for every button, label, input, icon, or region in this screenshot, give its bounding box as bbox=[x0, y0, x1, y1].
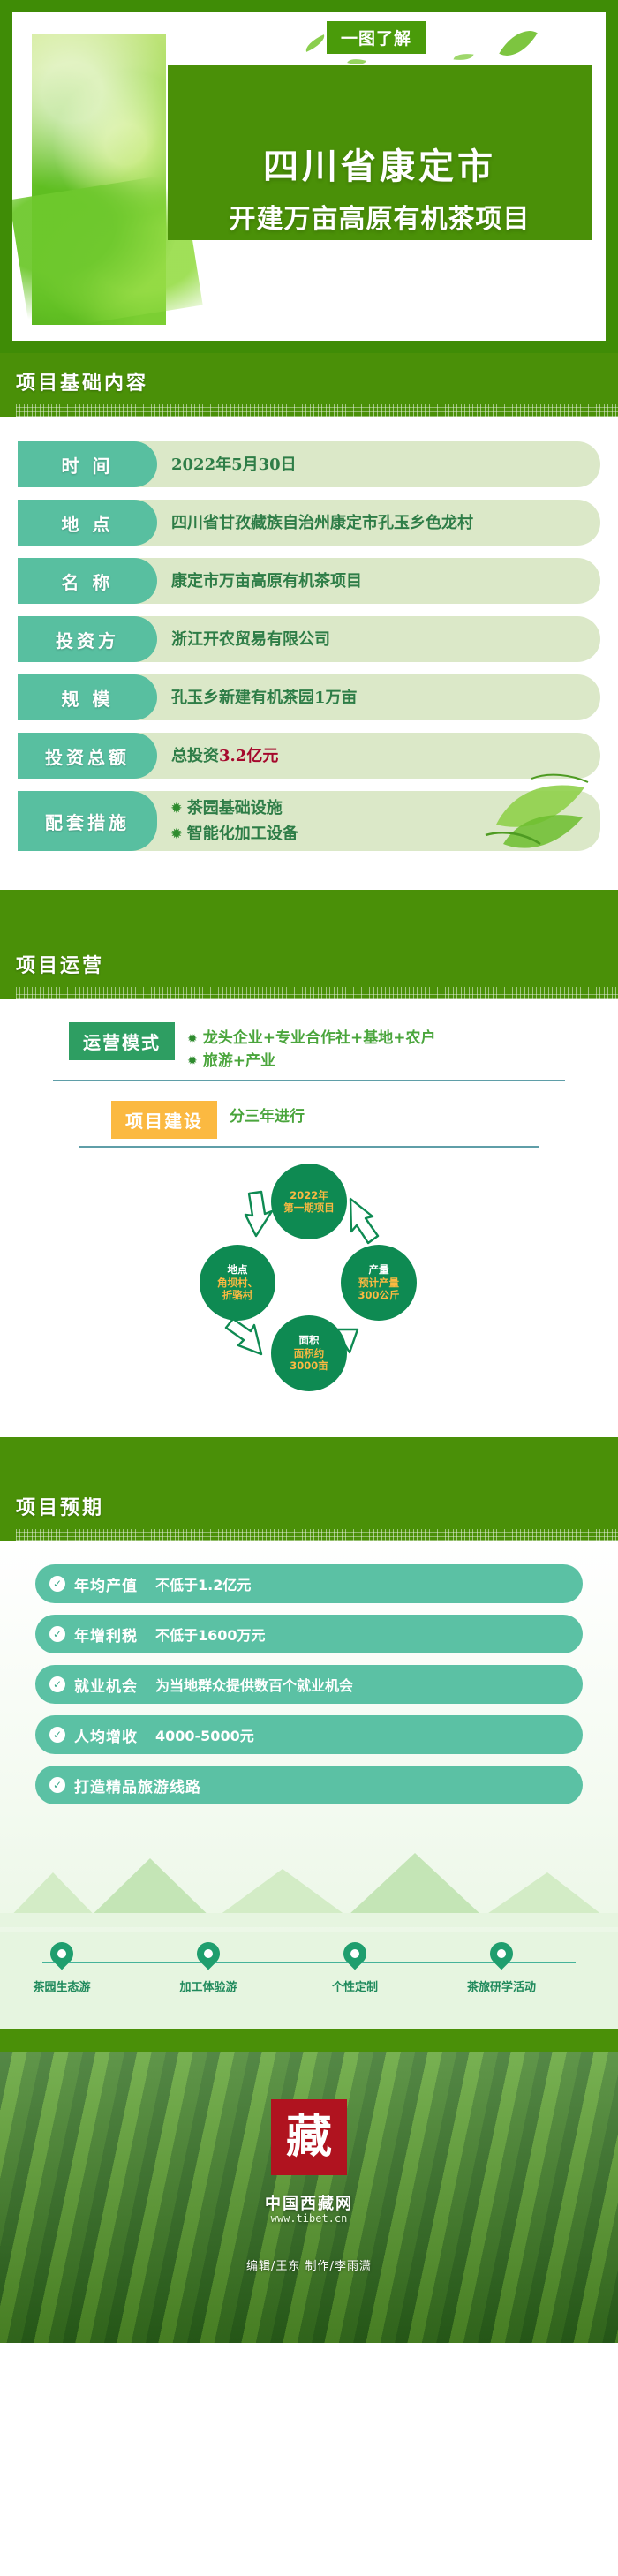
expectation-label: 年增利税 bbox=[74, 1623, 138, 1646]
mountain-silhouette-decoration bbox=[0, 1821, 618, 1927]
info-row-key: 时 间 bbox=[18, 441, 157, 487]
info-row: 规 模 孔玉乡新建有机茶园1万亩 bbox=[18, 674, 600, 720]
info-row: 名 称 康定市万亩高原有机茶项目 bbox=[18, 558, 600, 604]
expectation-pill: ✓ 人均增收 4000-5000元 bbox=[35, 1715, 583, 1754]
expectation-pill: ✓ 年均产值 不低于1.2亿元 bbox=[35, 1564, 583, 1603]
tea-leaf-photo bbox=[32, 34, 166, 325]
hero-inner-panel: 一图了解 四川省康定市 开建万亩高原有机茶项目 bbox=[12, 12, 606, 341]
cycle-node-phase: 2022年 第一期项目 bbox=[271, 1164, 347, 1239]
expectation-value: 4000-5000元 bbox=[155, 1724, 254, 1745]
info-row: 配套措施 ✹ 茶园基础设施 ✹ 智能化加工设备 bbox=[18, 791, 600, 851]
project-build-chip-label: 项目建设 bbox=[125, 1111, 203, 1132]
info-row-key: 投资方 bbox=[18, 616, 157, 662]
check-icon: ✓ bbox=[49, 1676, 65, 1692]
flower-bullet-icon: ✹ bbox=[171, 802, 182, 815]
map-pin-icon bbox=[46, 1938, 79, 1970]
leaf-decoration-icon bbox=[453, 52, 473, 63]
timeline-item-label: 个性定制 bbox=[302, 1977, 408, 1994]
list-item: ✹ 龙头企业+专业合作社+基地+农户 bbox=[187, 1028, 435, 1051]
flower-bullet-icon: ✹ bbox=[187, 1055, 198, 1067]
timeline-item: 茶园生态游 bbox=[9, 1942, 115, 1994]
map-pin-icon bbox=[486, 1938, 518, 1970]
list-item: ✹ 智能化加工设备 bbox=[171, 822, 298, 846]
divider-line bbox=[79, 1146, 539, 1148]
hero-title-line2: 开建万亩高原有机茶项目 bbox=[230, 197, 531, 236]
info-row-key: 名 称 bbox=[18, 558, 157, 604]
operation-mode-item-label: 旅游+产业 bbox=[203, 1051, 275, 1073]
info-row: 投资总额 总投资3.2亿元 bbox=[18, 733, 600, 779]
measure-label: 茶园基础设施 bbox=[187, 796, 283, 820]
cycle-node-sub: 面积约 3000亩 bbox=[290, 1347, 328, 1373]
site-name: 中国西藏网 bbox=[0, 2191, 618, 2214]
check-icon: ✓ bbox=[49, 1777, 65, 1793]
check-icon: ✓ bbox=[49, 1727, 65, 1743]
section-header-operation: 项目运营 bbox=[0, 936, 618, 999]
list-item: ✹ 茶园基础设施 bbox=[171, 796, 298, 820]
section-header-expectation: 项目预期 bbox=[0, 1478, 618, 1541]
expectation-label: 人均增收 bbox=[74, 1724, 138, 1746]
arrow-bottom-to-left bbox=[226, 1319, 261, 1354]
green-spacer-1 bbox=[0, 890, 618, 936]
list-item: ✹ 旅游+产业 bbox=[187, 1051, 435, 1073]
operation-mode-chip-label: 运营模式 bbox=[83, 1032, 161, 1053]
operation-section: 运营模式 ✹ 龙头企业+专业合作社+基地+农户 ✹ 旅游+产业 项目建设 分三年… bbox=[0, 999, 618, 1437]
expectation-value: 不低于1.2亿元 bbox=[155, 1573, 251, 1594]
basic-info-list: 时 间 2022年5月30日 地 点 四川省甘孜藏族自治州康定市孔玉乡色龙村 名… bbox=[0, 417, 618, 890]
measure-label: 智能化加工设备 bbox=[187, 822, 298, 846]
expectation-label: 打造精品旅游线路 bbox=[74, 1774, 201, 1796]
leaf-decoration-icon bbox=[303, 34, 328, 52]
info-row: 投资方 浙江开农贸易有限公司 bbox=[18, 616, 600, 662]
project-build-text: 分三年进行 bbox=[230, 1101, 305, 1129]
timeline-item: 加工体验游 bbox=[155, 1942, 261, 1994]
credit-line: 编辑/王东 制作/李雨潇 bbox=[0, 2256, 618, 2273]
info-row-value: 康定市万亩高原有机茶项目 bbox=[157, 558, 600, 604]
timeline-item-label: 茶园生态游 bbox=[9, 1977, 115, 1994]
operation-mode-item-label: 龙头企业+专业合作社+基地+农户 bbox=[203, 1028, 436, 1051]
cycle-node-location: 地点 角坝村、 折骆村 bbox=[200, 1245, 275, 1321]
info-row-key: 规 模 bbox=[18, 674, 157, 720]
expectation-value: 为当地群众提供数百个就业机会 bbox=[155, 1674, 353, 1695]
cycle-node-title: 面积 bbox=[299, 1334, 320, 1346]
leaf-decoration-icon bbox=[499, 21, 538, 64]
divider-line bbox=[53, 1080, 565, 1081]
flower-bullet-icon: ✹ bbox=[171, 828, 182, 840]
hero-banner: 一图了解 四川省康定市 开建万亩高原有机茶项目 bbox=[0, 0, 618, 353]
cycle-node-sub: 第一期项目 bbox=[283, 1201, 335, 1214]
check-icon: ✓ bbox=[49, 1626, 65, 1642]
flower-bullet-icon: ✹ bbox=[187, 1033, 198, 1045]
cycle-node-area: 面积 面积约 3000亩 bbox=[271, 1315, 347, 1391]
arrow-top-to-right bbox=[350, 1199, 378, 1243]
check-icon: ✓ bbox=[49, 1576, 65, 1592]
cycle-node-sub: 角坝村、 折骆村 bbox=[217, 1277, 258, 1302]
expectation-label: 就业机会 bbox=[74, 1674, 138, 1696]
info-row: 地 点 四川省甘孜藏族自治州康定市孔玉乡色龙村 bbox=[18, 500, 600, 546]
section-title-basic: 项目基础内容 bbox=[16, 367, 618, 395]
cycle-node-output: 产量 预计产量 300公斤 bbox=[341, 1245, 417, 1321]
hero-title-primary-block: 四川省康定市 bbox=[168, 65, 592, 192]
hero-badge: 一图了解 bbox=[327, 21, 426, 54]
info-row-key: 地 点 bbox=[18, 500, 157, 546]
project-build-chip: 项目建设 bbox=[111, 1101, 217, 1139]
infographic-page: 一图了解 四川省康定市 开建万亩高原有机茶项目 项目基础内容 时 间 2022年… bbox=[0, 0, 618, 2576]
info-row-value: ✹ 茶园基础设施 ✹ 智能化加工设备 bbox=[157, 791, 600, 851]
logo-glyph: 藏 bbox=[286, 2114, 332, 2160]
section-title-operation: 项目运营 bbox=[16, 950, 618, 978]
tourism-route-timeline: 茶园生态游 加工体验游 个性定制 茶旅研学活动 bbox=[0, 1932, 618, 2029]
expectation-pill: ✓ 年增利税 不低于1600万元 bbox=[35, 1615, 583, 1653]
site-logo: 藏 bbox=[271, 2099, 347, 2175]
cycle-node-sub: 预计产量 300公斤 bbox=[358, 1277, 399, 1302]
cycle-node-title: 地点 bbox=[228, 1263, 248, 1276]
fret-pattern-divider bbox=[16, 1529, 618, 1541]
map-pin-icon bbox=[192, 1938, 225, 1970]
cycle-node-title: 2022年 bbox=[290, 1189, 328, 1201]
section-header-basic: 项目基础内容 bbox=[0, 353, 618, 417]
hero-title-secondary-block: 开建万亩高原有机茶项目 bbox=[168, 192, 592, 240]
expectation-label: 年均产值 bbox=[74, 1573, 138, 1595]
expectation-pill: ✓ 就业机会 为当地群众提供数百个就业机会 bbox=[35, 1665, 583, 1704]
fret-pattern-divider bbox=[16, 404, 618, 417]
footer-banner: 藏 中国西藏网 www.tibet.cn 编辑/王东 制作/李雨潇 bbox=[0, 2052, 618, 2343]
info-row: 时 间 2022年5月30日 bbox=[18, 441, 600, 487]
investment-prefix: 总投资 bbox=[171, 744, 219, 768]
section-title-expectation: 项目预期 bbox=[16, 1492, 618, 1520]
info-row-value: 总投资3.2亿元 bbox=[157, 733, 600, 779]
green-spacer-2 bbox=[0, 1437, 618, 1478]
green-spacer-3 bbox=[0, 2029, 618, 2052]
info-row-value: 2022年5月30日 bbox=[157, 441, 600, 487]
cycle-node-title: 产量 bbox=[369, 1263, 389, 1276]
info-row-value: 四川省甘孜藏族自治州康定市孔玉乡色龙村 bbox=[157, 500, 600, 546]
expectation-pill: ✓ 打造精品旅游线路 bbox=[35, 1766, 583, 1804]
project-cycle-diagram: 2022年 第一期项目 产量 预计产量 300公斤 面积 面积约 3000亩 地… bbox=[177, 1164, 441, 1420]
site-url: www.tibet.cn bbox=[0, 2212, 618, 2225]
info-row-value: 孔玉乡新建有机茶园1万亩 bbox=[157, 674, 600, 720]
arrow-left-to-top bbox=[245, 1192, 272, 1236]
investment-amount: 3.2亿元 bbox=[219, 744, 278, 768]
timeline-item: 茶旅研学活动 bbox=[448, 1942, 554, 1994]
operation-mode-items: ✹ 龙头企业+专业合作社+基地+农户 ✹ 旅游+产业 bbox=[187, 1022, 435, 1073]
info-row-key: 配套措施 bbox=[18, 791, 157, 851]
project-build-row: 项目建设 分三年进行 bbox=[35, 1101, 583, 1139]
expectation-section: ✓ 年均产值 不低于1.2亿元 ✓ 年增利税 不低于1600万元 ✓ 就业机会 … bbox=[0, 1541, 618, 2029]
timeline-item: 个性定制 bbox=[302, 1942, 408, 1994]
info-row-value: 浙江开农贸易有限公司 bbox=[157, 616, 600, 662]
timeline-item-label: 加工体验游 bbox=[155, 1977, 261, 1994]
fret-pattern-divider bbox=[16, 987, 618, 999]
operation-mode-chip: 运营模式 bbox=[69, 1022, 175, 1060]
map-pin-icon bbox=[339, 1938, 372, 1970]
timeline-item-label: 茶旅研学活动 bbox=[448, 1977, 554, 1994]
hero-title-line1: 四川省康定市 bbox=[168, 147, 592, 187]
hero-badge-label: 一图了解 bbox=[341, 26, 411, 49]
expectation-value: 不低于1600万元 bbox=[155, 1623, 266, 1645]
supporting-measures-list: ✹ 茶园基础设施 ✹ 智能化加工设备 bbox=[171, 796, 298, 846]
operation-mode-row: 运营模式 ✹ 龙头企业+专业合作社+基地+农户 ✹ 旅游+产业 bbox=[35, 1022, 583, 1073]
info-row-key: 投资总额 bbox=[18, 733, 157, 779]
